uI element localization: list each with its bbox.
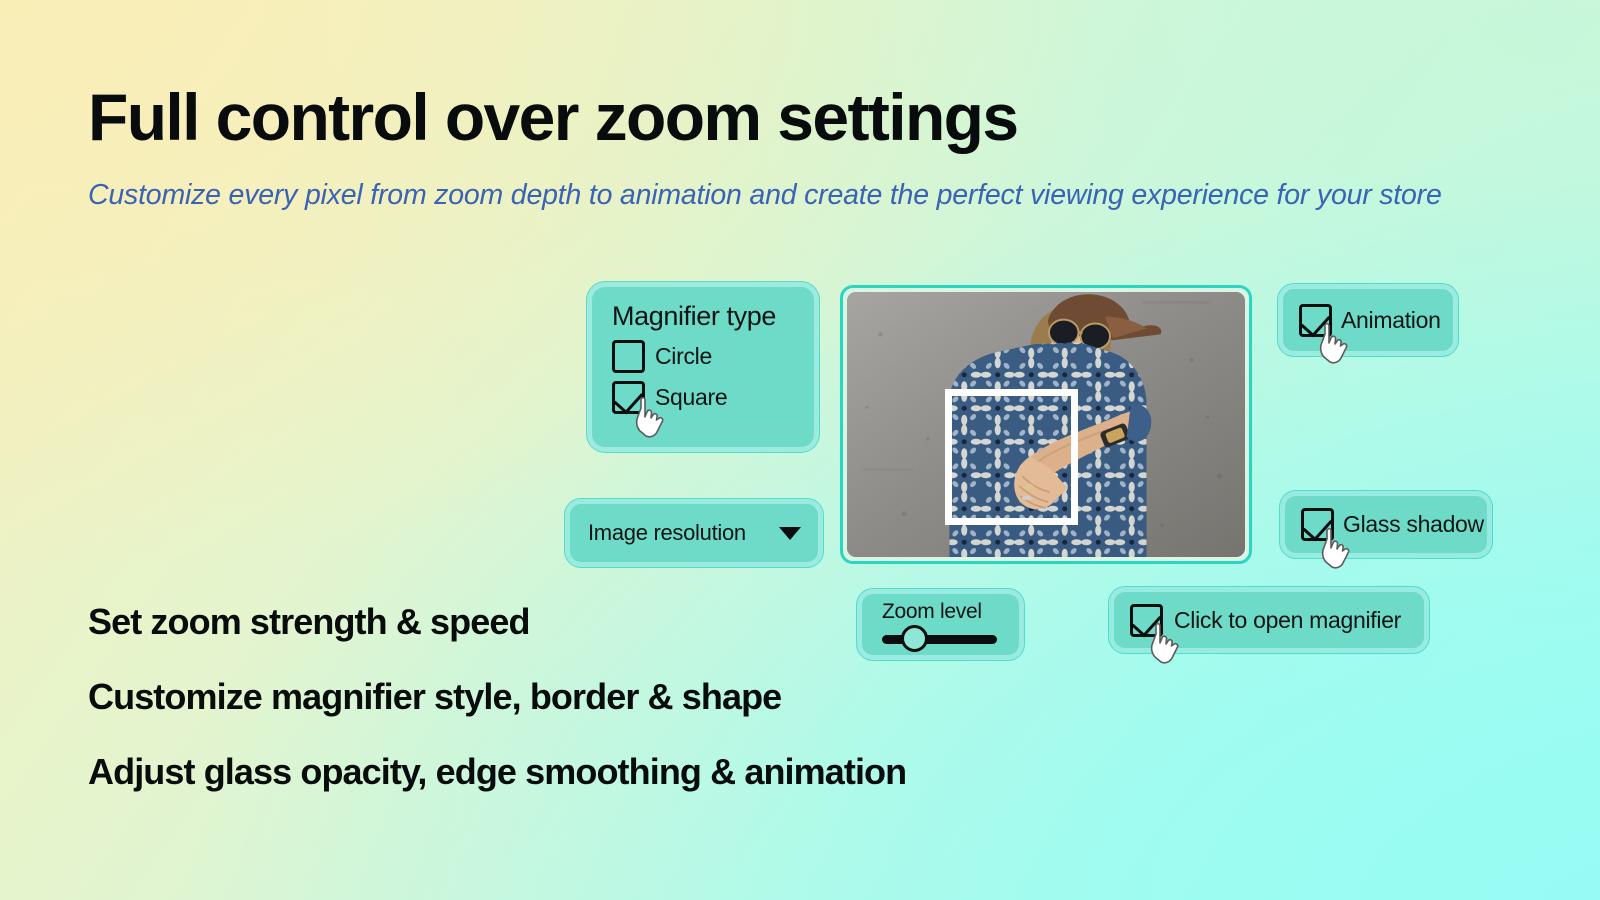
checkbox-square-icon[interactable] — [612, 381, 645, 414]
magnifier-selection-square[interactable] — [945, 389, 1078, 525]
glass-shadow-toggle-label: Glass shadow — [1343, 511, 1484, 538]
magnifier-type-option-circle[interactable]: Circle — [612, 340, 814, 373]
checkbox-animation-icon[interactable] — [1299, 304, 1332, 337]
feature-bullet-0: Set zoom strength & speed — [88, 601, 906, 643]
chevron-down-icon[interactable] — [779, 527, 801, 540]
product-image-frame[interactable] — [840, 285, 1252, 564]
page-title: Full control over zoom settings — [88, 84, 1017, 151]
glass-shadow-toggle[interactable]: Glass shadow — [1285, 496, 1487, 553]
magnifier-type-option-square-label: Square — [655, 384, 727, 411]
magnifier-type-option-square[interactable]: Square — [612, 381, 814, 414]
checkbox-glass-shadow-icon[interactable] — [1301, 508, 1334, 541]
page-subtitle: Customize every pixel from zoom depth to… — [88, 176, 1448, 215]
animation-toggle[interactable]: Animation — [1283, 289, 1453, 351]
feature-bullet-1: Customize magnifier style, border & shap… — [88, 676, 906, 718]
magnifier-type-option-circle-label: Circle — [655, 343, 712, 370]
magnifier-type-panel: Magnifier type Circle Square — [592, 287, 814, 447]
click-to-open-magnifier-toggle[interactable]: Click to open magnifier — [1114, 592, 1424, 648]
click-to-open-magnifier-label: Click to open magnifier — [1174, 607, 1401, 634]
feature-bullet-2: Adjust glass opacity, edge smoothing & a… — [88, 751, 906, 793]
magnifier-type-title: Magnifier type — [612, 301, 814, 332]
checkbox-click-to-open-icon[interactable] — [1130, 604, 1163, 637]
image-resolution-label: Image resolution — [588, 520, 746, 546]
feature-bullet-list: Set zoom strength & speed Customize magn… — [88, 601, 906, 793]
checkbox-circle-icon[interactable] — [612, 340, 645, 373]
animation-toggle-label: Animation — [1341, 307, 1441, 334]
image-resolution-dropdown[interactable]: Image resolution — [570, 504, 818, 562]
product-photo[interactable] — [847, 292, 1245, 557]
